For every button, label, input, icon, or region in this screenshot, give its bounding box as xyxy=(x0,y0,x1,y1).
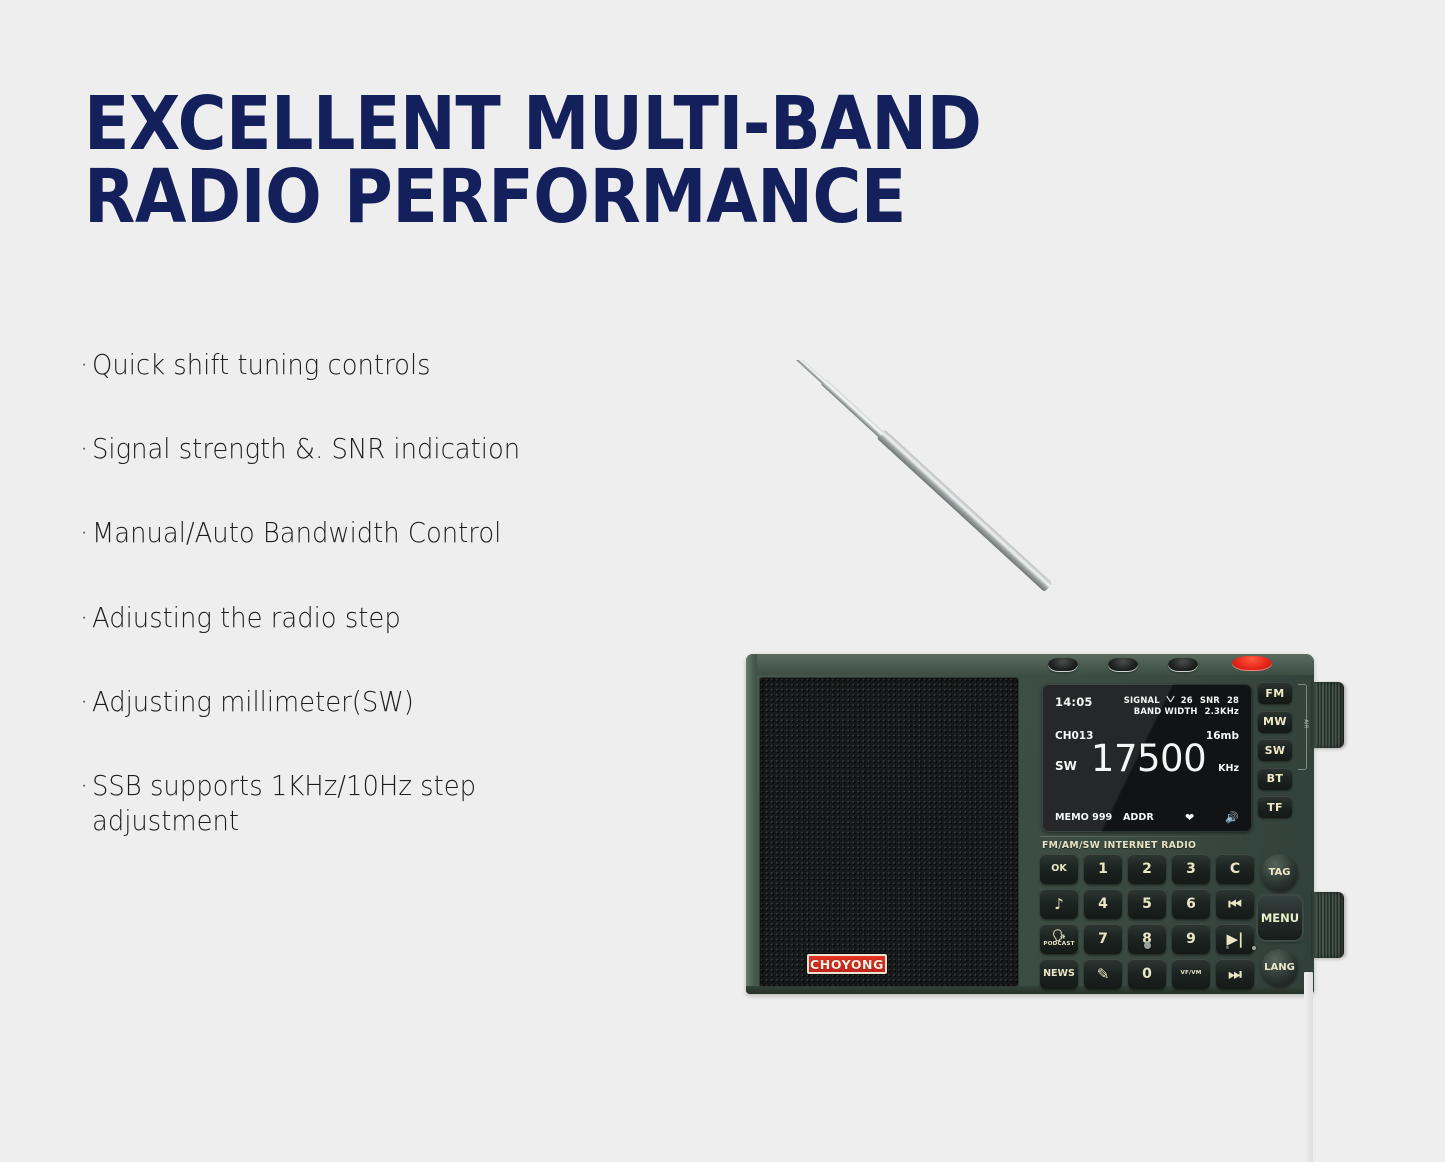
key-3[interactable]: 3 xyxy=(1172,854,1210,884)
key-7[interactable]: 7 xyxy=(1084,924,1122,954)
list-item: · Quick shift tuning controls xyxy=(80,348,663,383)
key-label: C xyxy=(1230,862,1240,876)
signal-label: SIGNAL xyxy=(1124,695,1160,706)
key-label: 0 xyxy=(1142,967,1152,981)
menu-button-label: MENU xyxy=(1261,911,1299,925)
address-indicator: ADDR xyxy=(1123,812,1185,823)
band-button-label: SW xyxy=(1265,744,1286,757)
band-button-label: FM xyxy=(1265,687,1284,700)
channel-number: CH013 xyxy=(1055,730,1093,742)
bullet-marker: · xyxy=(80,769,88,804)
band-selector: FM MW SW BT TF AIR xyxy=(1258,682,1298,825)
key-9[interactable]: 9 xyxy=(1172,924,1210,954)
edit-icon: ✎ xyxy=(1097,967,1110,982)
speaker-icon: 🔊 xyxy=(1225,812,1239,823)
band-button-fm[interactable]: FM xyxy=(1258,682,1292,704)
play-icon: ▶| xyxy=(1226,932,1243,947)
bullet-marker: · xyxy=(80,432,88,467)
memory-slot: MEMO 999 xyxy=(1055,812,1123,823)
key-8[interactable]: 8 xyxy=(1128,924,1166,954)
key-label: VF/VM xyxy=(1180,971,1201,977)
meter-band: 16mb xyxy=(1206,730,1239,742)
antenna-icon xyxy=(1167,695,1174,702)
tag-button[interactable]: TAG xyxy=(1261,854,1298,891)
key-news[interactable]: NEWS xyxy=(1040,959,1078,989)
key-podcast[interactable]: 🗣 PODCAST xyxy=(1040,924,1078,954)
bullet-marker: · xyxy=(80,685,88,720)
frequency-readout: 17500 xyxy=(1091,740,1206,777)
list-item: · Manual/Auto Bandwidth Control xyxy=(80,516,663,551)
lang-button[interactable]: LANG xyxy=(1261,949,1298,986)
key-4[interactable]: 4 xyxy=(1084,889,1122,919)
key-label: 9 xyxy=(1186,932,1196,946)
keypad: OK 1 2 3 C ♪ 4 5 6 ⏮ 🗣 PODCAST 7 8 9 ▶| … xyxy=(1040,854,1254,989)
key-6[interactable]: 6 xyxy=(1172,889,1210,919)
brand-logo: CHOYONG xyxy=(807,954,887,974)
key-clear[interactable]: C xyxy=(1216,854,1254,884)
tag-button-label: TAG xyxy=(1269,867,1291,878)
panel-divider xyxy=(1040,836,1252,837)
list-item: · SSB supports 1KHz/10Hz step adjustment xyxy=(80,769,663,839)
feature-list: · Quick shift tuning controls · Signal s… xyxy=(80,348,700,888)
left-edge xyxy=(746,654,757,994)
list-item-label: SSB supports 1KHz/10Hz step adjustment xyxy=(92,769,476,839)
previous-track-icon: ⏮ xyxy=(1228,897,1242,912)
lang-button-label: LANG xyxy=(1264,962,1295,973)
product-image: CHOYONG 14:05 SIGNAL xyxy=(742,360,1342,1000)
menu-button[interactable]: MENU xyxy=(1258,896,1302,940)
list-item: · Signal strength &. SNR indication xyxy=(80,432,663,467)
speaker-grille: CHOYONG xyxy=(760,678,1018,986)
page-title: EXCELLENT MULTI-BAND RADIO PERFORMANCE xyxy=(84,88,1038,233)
list-item-label: Adiusting the radio step xyxy=(92,601,401,636)
key-label: 5 xyxy=(1142,897,1152,911)
list-item: · Adiusting the radio step xyxy=(80,601,663,636)
key-label: 4 xyxy=(1098,897,1108,911)
key-music[interactable]: ♪ xyxy=(1040,889,1078,919)
key-2[interactable]: 2 xyxy=(1128,854,1166,884)
bullet-marker: · xyxy=(80,601,88,636)
bullet-marker: · xyxy=(80,348,88,383)
list-item-label: Signal strength &. SNR indication xyxy=(92,432,520,467)
band-button-label: MW xyxy=(1263,715,1287,728)
key-label: PODCAST xyxy=(1043,942,1074,948)
usb-jack[interactable] xyxy=(1168,658,1198,672)
key-label: NEWS xyxy=(1043,969,1075,979)
key-label: 1 xyxy=(1098,862,1108,876)
panel-model-label: FM/AM/SW INTERNET RADIO xyxy=(1042,840,1196,851)
key-label: OK xyxy=(1051,864,1066,874)
snr-label: SNR xyxy=(1200,695,1220,706)
key-vf-vm[interactable]: VF/VM xyxy=(1172,959,1210,989)
key-label: 7 xyxy=(1098,932,1108,946)
heart-icon: ❤ xyxy=(1185,812,1194,823)
band-button-label: TF xyxy=(1267,801,1283,814)
key-5[interactable]: 5 xyxy=(1128,889,1166,919)
key-label: 3 xyxy=(1186,862,1196,876)
radio-body: CHOYONG 14:05 SIGNAL xyxy=(746,654,1314,994)
band-group-label: AIR xyxy=(1303,719,1309,728)
headphone-jack[interactable] xyxy=(1108,658,1138,672)
reset-pinhole xyxy=(1226,946,1229,949)
list-item-label: Manual/Auto Bandwidth Control xyxy=(92,516,501,551)
top-edge xyxy=(746,654,1314,675)
key-1[interactable]: 1 xyxy=(1084,854,1122,884)
bullet-marker: · xyxy=(80,516,88,551)
band-button-label: BT xyxy=(1267,772,1284,785)
list-item-label: Adjusting millimeter(SW) xyxy=(92,685,414,720)
next-track-icon: ⏭ xyxy=(1228,967,1242,982)
lcd-display: 14:05 SIGNAL 26 SNR 28 BAND WIDTH xyxy=(1042,684,1252,832)
bandwidth-value: 2.3KHz xyxy=(1205,706,1239,717)
key-label: 6 xyxy=(1186,897,1196,911)
band-group-bracket: AIR xyxy=(1298,684,1307,770)
list-item: · Adjusting millimeter(SW) xyxy=(80,685,663,720)
signal-value: 26 xyxy=(1181,695,1193,706)
bandwidth-label: BAND WIDTH xyxy=(1134,706,1198,717)
key-ok[interactable]: OK xyxy=(1040,854,1078,884)
band-button-bt[interactable]: BT xyxy=(1258,768,1292,790)
music-note-icon: ♪ xyxy=(1054,897,1064,912)
antenna-jack[interactable] xyxy=(1048,658,1078,672)
key-edit[interactable]: ✎ xyxy=(1084,959,1122,989)
list-item-label: Quick shift tuning controls xyxy=(92,348,431,383)
podcast-icon: 🗣 xyxy=(1052,930,1066,941)
volume-knob[interactable] xyxy=(1311,892,1344,958)
key-play[interactable]: ▶| xyxy=(1216,924,1254,954)
snr-value: 28 xyxy=(1227,695,1239,706)
band-button-tf[interactable]: TF xyxy=(1258,796,1292,818)
key-0[interactable]: 0 xyxy=(1128,959,1166,989)
indicator-dot xyxy=(1144,942,1151,949)
band-button-mw[interactable]: MW xyxy=(1258,711,1292,733)
band-button-sw[interactable]: SW xyxy=(1258,739,1292,761)
key-previous[interactable]: ⏮ xyxy=(1216,889,1254,919)
band-indicator: SW xyxy=(1055,759,1077,777)
telescopic-antenna xyxy=(742,360,1162,660)
status-led xyxy=(1252,946,1256,950)
key-label: 2 xyxy=(1142,862,1152,876)
brand-logo-label: CHOYONG xyxy=(810,957,884,972)
key-next[interactable]: ⏭ xyxy=(1216,959,1254,989)
tuning-knob[interactable] xyxy=(1311,682,1344,748)
control-panel: 14:05 SIGNAL 26 SNR 28 BAND WIDTH xyxy=(1026,674,1314,988)
power-button[interactable] xyxy=(1232,656,1272,671)
display-clock: 14:05 xyxy=(1055,695,1093,709)
frequency-unit: KHz xyxy=(1218,763,1239,777)
side-strip xyxy=(1304,972,1313,1162)
